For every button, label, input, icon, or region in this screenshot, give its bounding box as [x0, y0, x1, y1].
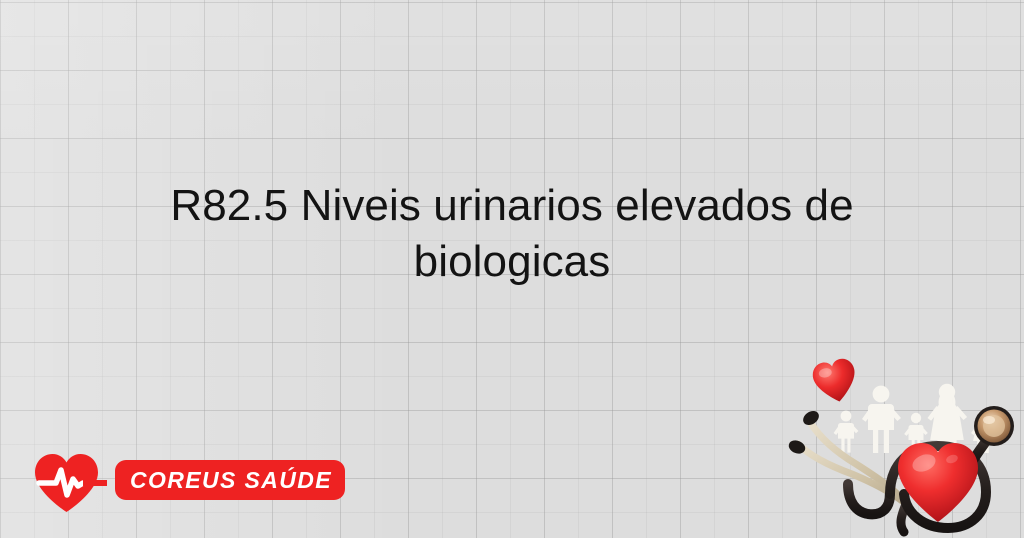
page-title-line-1: R82.5 Niveis urinarios elevados de [52, 178, 972, 234]
brand-logo[interactable]: COREUS SAÚDE [31, 446, 351, 514]
family-silhouette-icon [834, 384, 996, 454]
medical-family-care-illustration [786, 352, 1024, 538]
page-title-line-2: biologicas [52, 234, 972, 290]
slide-canvas: R82.5 Niveis urinarios elevados de biolo… [0, 0, 1024, 538]
brand-name-label: COREUS SAÚDE [115, 460, 345, 500]
heart-with-ecg-icon [31, 450, 107, 514]
small-heart-icon [810, 357, 860, 406]
brand-badge: COREUS SAÚDE [115, 460, 345, 500]
page-title: R82.5 Niveis urinarios elevados de biolo… [52, 178, 972, 290]
stethoscope-chestpiece-icon [974, 406, 1014, 446]
